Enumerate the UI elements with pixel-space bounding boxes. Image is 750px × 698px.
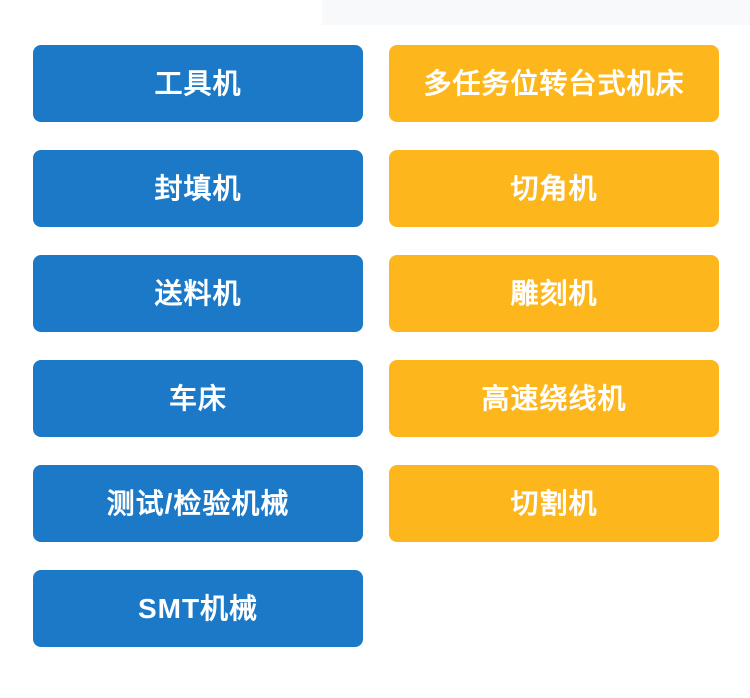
category-tag-label: 雕刻机	[510, 280, 597, 308]
category-tag-button-tool-machine[interactable]: 工具机	[33, 45, 363, 122]
category-tag-label: 高速绕线机	[481, 385, 626, 413]
tag-row: 工具机 多任务位转台式机床	[0, 45, 750, 122]
tag-slot-empty	[389, 570, 719, 647]
category-tag-label: 切割机	[510, 490, 597, 518]
category-tag-button-engraving-machine[interactable]: 雕刻机	[389, 255, 719, 332]
category-tag-label: 送料机	[154, 280, 241, 308]
category-tag-label: 多任务位转台式机床	[423, 70, 684, 98]
tag-row: 测试/检验机械 切割机	[0, 465, 750, 542]
machine-category-tag-grid: 工具机 多任务位转台式机床 封填机 切角机 送料机 雕刻机 车床 高速绕线机 测…	[0, 45, 750, 647]
category-tag-button-sealing-filling-machine[interactable]: 封填机	[33, 150, 363, 227]
category-tag-label: 测试/检验机械	[107, 490, 290, 518]
category-tag-button-cutting-machine[interactable]: 切割机	[389, 465, 719, 542]
top-background-band	[322, 0, 750, 25]
category-tag-label: 工具机	[154, 70, 241, 98]
tag-row: 封填机 切角机	[0, 150, 750, 227]
category-tag-button-high-speed-winding-machine[interactable]: 高速绕线机	[389, 360, 719, 437]
tag-row: SMT机械	[0, 570, 750, 647]
category-tag-label: 切角机	[510, 175, 597, 203]
category-tag-button-smt-machinery[interactable]: SMT机械	[33, 570, 363, 647]
category-tag-label: 封填机	[154, 175, 241, 203]
category-tag-label: 车床	[169, 385, 227, 413]
category-tag-button-multi-station-rotary-machine-tool[interactable]: 多任务位转台式机床	[389, 45, 719, 122]
category-tag-button-feeding-machine[interactable]: 送料机	[33, 255, 363, 332]
tag-row: 车床 高速绕线机	[0, 360, 750, 437]
category-tag-button-lathe[interactable]: 车床	[33, 360, 363, 437]
tag-row: 送料机 雕刻机	[0, 255, 750, 332]
category-tag-button-corner-cutting-machine[interactable]: 切角机	[389, 150, 719, 227]
category-tag-label: SMT机械	[138, 595, 258, 623]
category-tag-button-testing-inspection-machinery[interactable]: 测试/检验机械	[33, 465, 363, 542]
